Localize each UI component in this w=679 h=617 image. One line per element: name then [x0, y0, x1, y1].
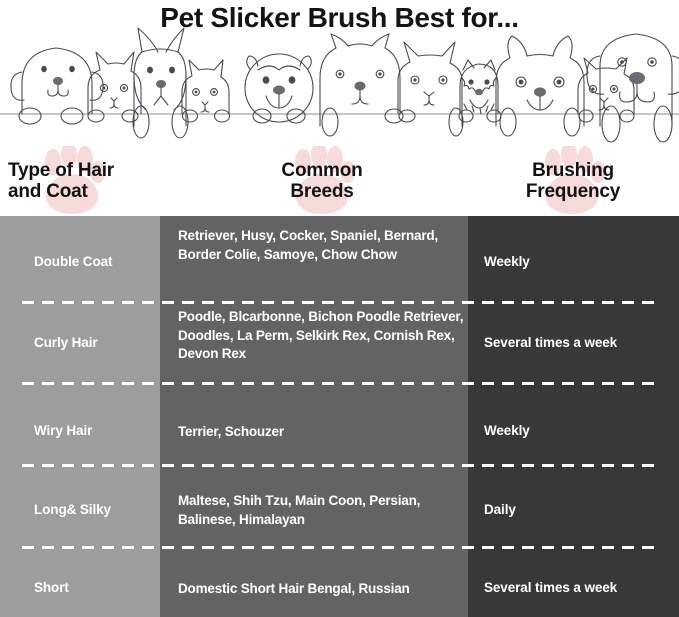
pet-cat-3 [398, 42, 463, 136]
header-brushing-frequency: Brushing Frequency [478, 160, 668, 203]
header-line-2: Breeds [290, 181, 353, 202]
header-line-2: and Coat [8, 181, 88, 202]
row-separator [22, 546, 655, 549]
header-line-2: Frequency [526, 181, 620, 202]
cell-frequency: Several times a week [484, 335, 674, 352]
header-line-1: Brushing [532, 160, 614, 181]
header-line-1: Common [281, 160, 362, 181]
cell-coat-type: Wiry Hair [34, 423, 160, 440]
cell-breeds: Maltese, Shih Tzu, Main Coon, Persian, B… [178, 492, 464, 529]
pet-cat-small [88, 52, 141, 122]
cell-frequency: Weekly [484, 254, 674, 271]
table-rows: Double Coat Retriever, Husy, Cocker, Spa… [0, 216, 679, 617]
pet-shepherd [133, 28, 188, 138]
pet-shaggy-terrier [459, 60, 501, 122]
cell-coat-type: Short [34, 580, 160, 597]
cell-coat-type: Double Coat [34, 254, 160, 271]
pet-cat-2 [182, 60, 230, 122]
cell-breeds: Retriever, Husy, Cocker, Spaniel, Bernar… [178, 227, 464, 264]
cell-breeds: Terrier, Schouzer [178, 423, 464, 442]
infographic-page: Pet Slicker Brush Best for... [0, 0, 679, 617]
row-separator [22, 301, 655, 304]
cell-breeds: Poodle, Blcarbonne, Bichon Poodle Retrie… [178, 308, 464, 364]
pet-french-bulldog [496, 36, 584, 136]
cell-coat-type: Long& Silky [34, 502, 160, 519]
coat-care-table: Double Coat Retriever, Husy, Cocker, Spa… [0, 216, 679, 617]
cell-frequency: Weekly [484, 423, 674, 440]
cell-coat-type: Curly Hair [34, 335, 160, 352]
cell-frequency: Several times a week [484, 580, 674, 597]
cell-breeds: Domestic Short Hair Bengal, Russian [178, 580, 464, 599]
cell-frequency: Daily [484, 502, 674, 519]
row-separator [22, 464, 655, 467]
hero-banner: Pet Slicker Brush Best for... [0, 0, 679, 216]
header-type-of-hair-and-coat: Type of Hair and Coat [8, 160, 158, 203]
pet-labrador [587, 34, 679, 142]
column-headers: Type of Hair and Coat Common Breeds Brus… [0, 160, 679, 216]
pet-spitz [320, 34, 403, 136]
row-separator [22, 382, 655, 385]
header-line-1: Type of Hair [8, 160, 114, 181]
pet-lineart-illustration [0, 26, 679, 146]
header-common-breeds: Common Breeds [232, 160, 412, 203]
pet-cat-4 [578, 58, 634, 122]
pet-pug [245, 54, 313, 123]
